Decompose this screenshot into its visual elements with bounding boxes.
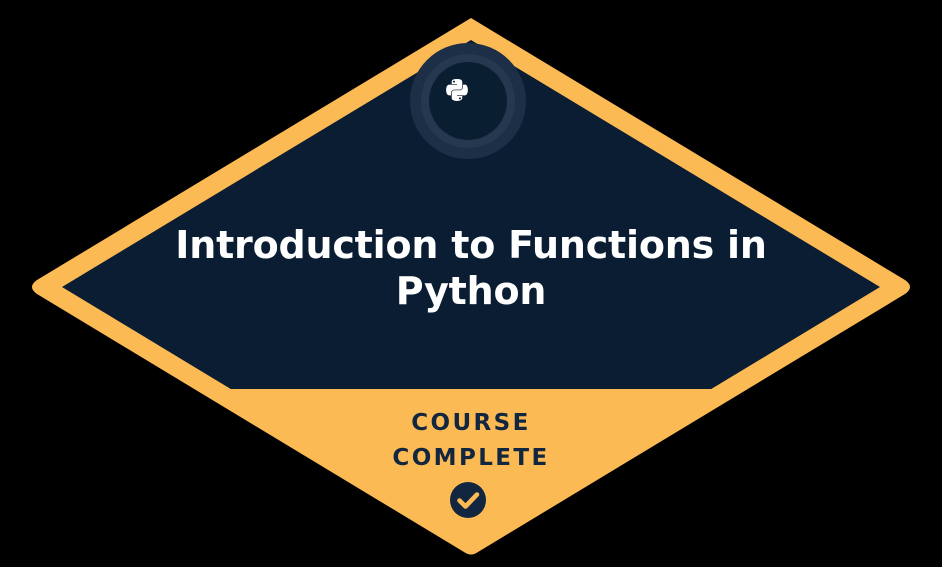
course-completion-badge: Introduction to Functions in Python COUR… [0,0,942,567]
badge-graphic [0,0,942,567]
logo-halo-rings [410,43,526,159]
check-circle-icon [450,482,486,518]
